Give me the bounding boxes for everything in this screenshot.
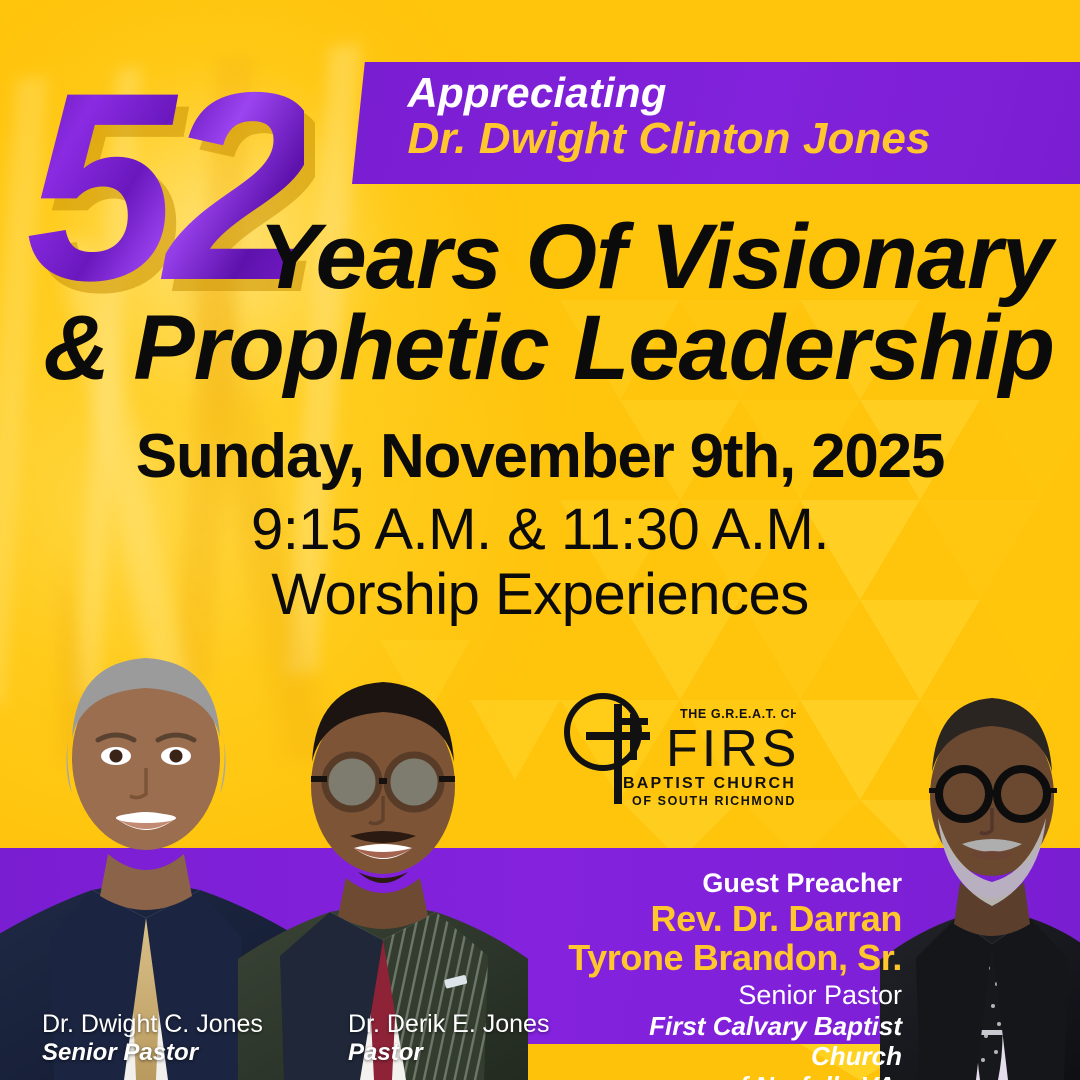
- headline: Years Of Visionary & Prophetic Leadershi…: [0, 212, 1070, 396]
- event-datetime: Sunday, November 9th, 2025 9:15 A.M. & 1…: [0, 424, 1080, 626]
- logo-tagline: THE G.R.E.A.T. CHURCH: [680, 707, 796, 721]
- event-date: Sunday, November 9th, 2025: [0, 424, 1080, 490]
- guest-preacher-church-line-1: First Calvary Baptist Church: [562, 1011, 902, 1071]
- event-flyer: 52 Appreciating Dr. Dwight Clinton Jones…: [0, 0, 1080, 1080]
- guest-preacher-role: Senior Pastor: [562, 979, 902, 1011]
- caption-name: Dr. Derik E. Jones: [348, 1010, 549, 1039]
- banner-line-honoree-name: Dr. Dwight Clinton Jones: [407, 114, 1080, 163]
- guest-preacher-label: Guest Preacher: [562, 868, 902, 900]
- guest-preacher-name-line-2: Tyrone Brandon, Sr.: [562, 939, 902, 978]
- caption-name: Dr. Dwight C. Jones: [42, 1010, 263, 1039]
- caption-dwight-jones: Dr. Dwight C. Jones Senior Pastor: [42, 1010, 263, 1066]
- caption-derik-jones: Dr. Derik E. Jones Pastor: [348, 1010, 549, 1066]
- event-services-label: Worship Experiences: [0, 563, 1080, 627]
- headline-line-2: & Prophetic Leadership: [0, 302, 1070, 396]
- logo-line-2: BAPTIST CHURCH: [623, 775, 796, 792]
- appreciation-banner: Appreciating Dr. Dwight Clinton Jones: [352, 62, 1080, 184]
- caption-role: Senior Pastor: [42, 1039, 263, 1067]
- guest-preacher-name-line-1: Rev. Dr. Darran: [562, 900, 902, 939]
- logo-name: FIRST: [666, 720, 796, 778]
- portrait-guest-preacher: [880, 668, 1080, 1080]
- caption-role: Pastor: [348, 1039, 549, 1067]
- logo-line-3: OF SOUTH RICHMOND: [632, 794, 796, 808]
- headline-line-1: Years Of Visionary: [0, 212, 1070, 302]
- banner-line-appreciating: Appreciating: [407, 71, 1080, 114]
- event-times: 9:15 A.M. & 11:30 A.M.: [0, 498, 1080, 563]
- church-logo: THE G.R.E.A.T. CHURCH FIRST BAPTIST CHUR…: [556, 688, 796, 810]
- guest-preacher-church-line-2: of Norfolk, VA.: [562, 1071, 902, 1080]
- guest-preacher-block: Guest Preacher Rev. Dr. Darran Tyrone Br…: [562, 868, 902, 1080]
